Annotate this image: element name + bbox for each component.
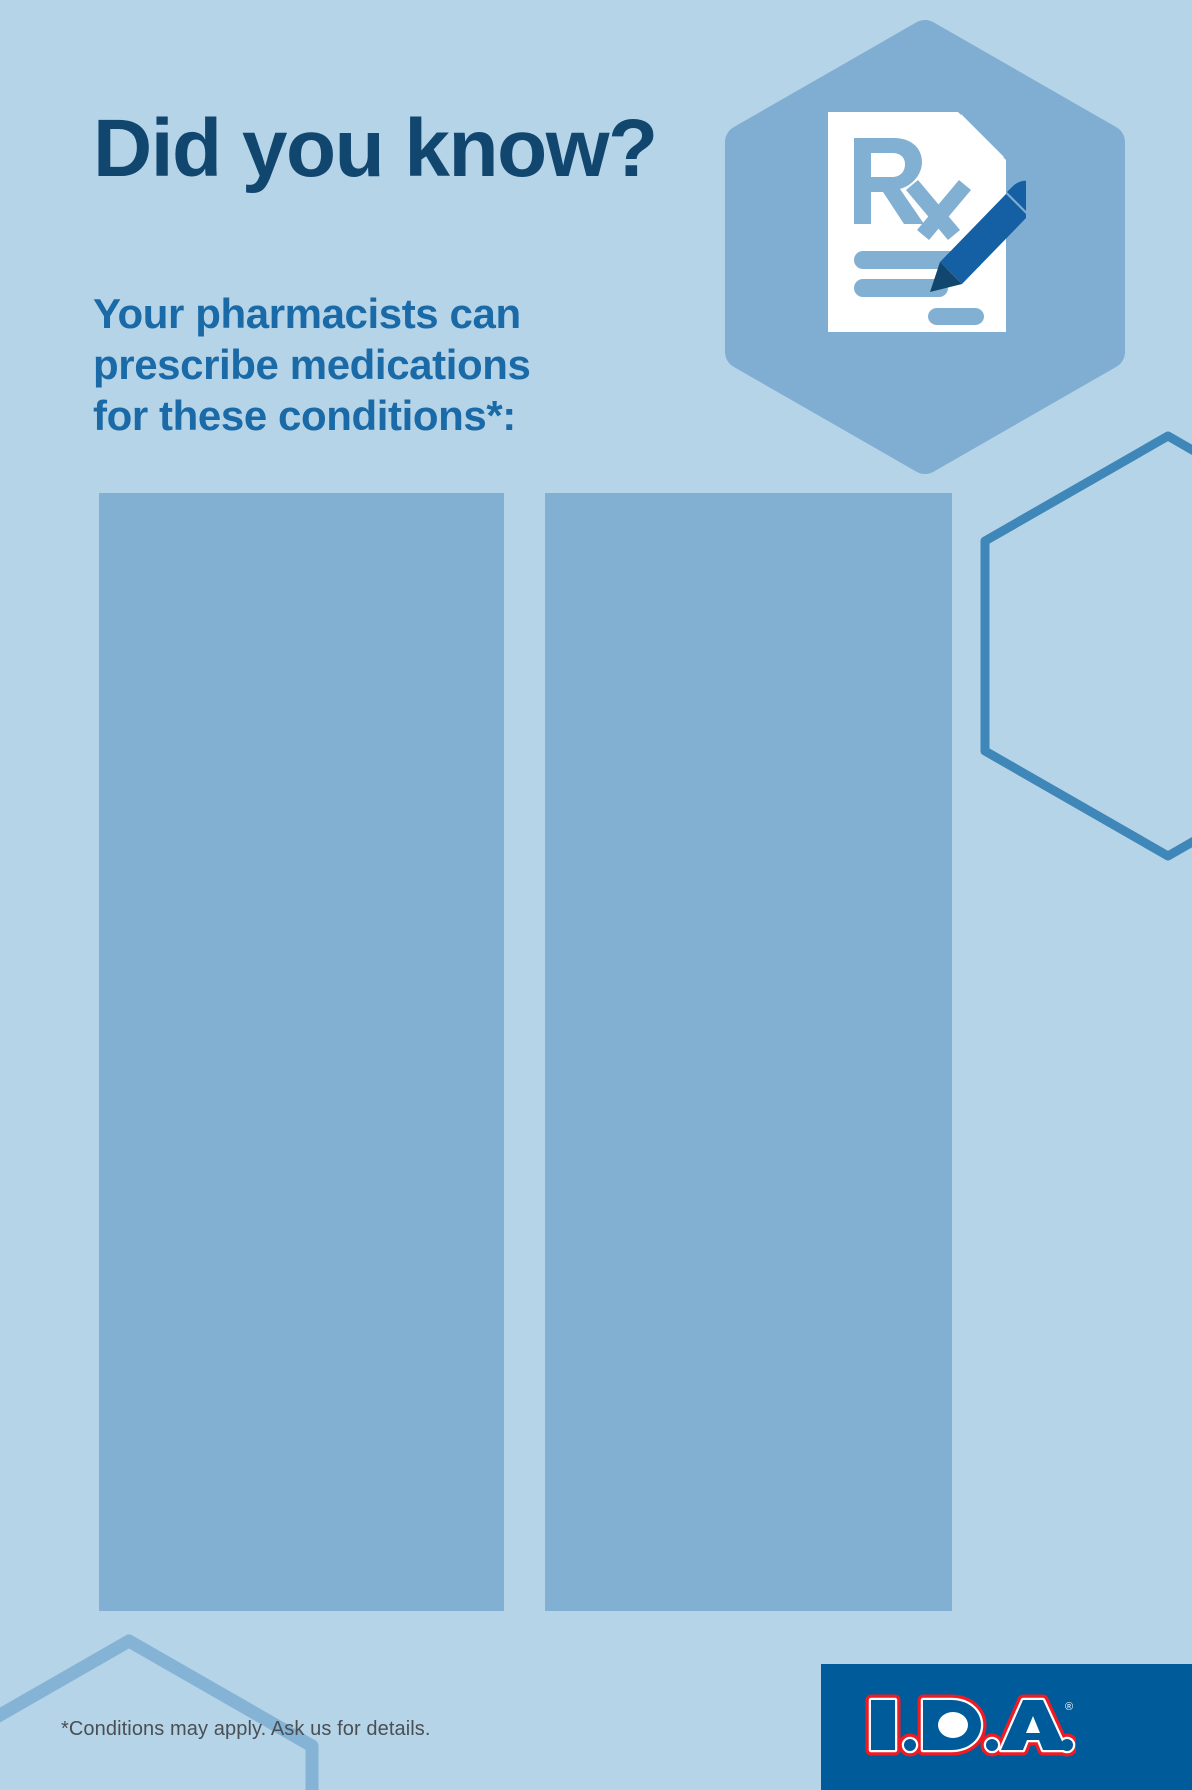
registered-trademark-symbol: ® xyxy=(1065,1701,1073,1713)
conditions-column-left xyxy=(99,493,504,1611)
subheading-line-3: for these conditions*: xyxy=(93,390,530,441)
subheading-line-2: prescribe medications xyxy=(93,339,530,390)
document-folded-corner xyxy=(961,114,1004,157)
poster-canvas: Did you know? Your pharmacists can presc… xyxy=(0,0,1192,1790)
footnote-disclaimer: *Conditions may apply. Ask us for detail… xyxy=(61,1718,431,1741)
document-signature-line xyxy=(928,308,984,325)
ida-logo-letters xyxy=(871,1700,1073,1751)
ida-logo-block: ® xyxy=(821,1664,1192,1790)
page-title: Did you know? xyxy=(93,108,657,190)
ida-logo-icon: ® xyxy=(861,1688,1076,1762)
conditions-column-right xyxy=(545,493,952,1611)
subheading: Your pharmacists can prescribe medicatio… xyxy=(93,288,530,442)
hexagon-outline-shape-right xyxy=(985,436,1192,856)
rx-prescription-document-icon xyxy=(828,112,1026,332)
hexagon-outline-shape-bottom-left xyxy=(0,1641,312,1790)
subheading-line-1: Your pharmacists can xyxy=(93,288,530,339)
